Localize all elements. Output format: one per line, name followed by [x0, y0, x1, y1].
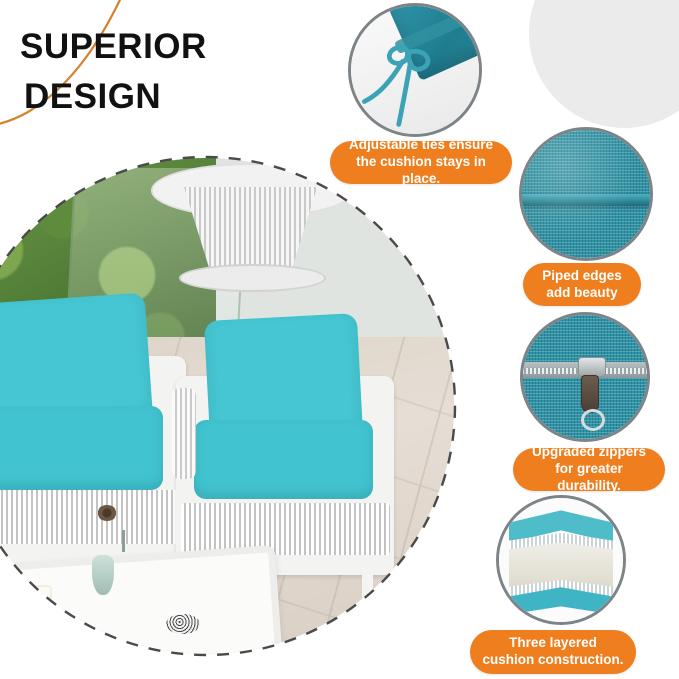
chair-right-armrest: [172, 388, 196, 479]
round-wicker-side-table: [151, 163, 349, 312]
tie-straps-bow-icon: [351, 6, 479, 134]
hero-photo-image: [0, 158, 454, 654]
infographic-canvas: SUPERIOR DESIGN: [0, 0, 679, 679]
page-title: SUPERIOR DESIGN: [20, 22, 340, 121]
chair-right-seat-cushion: [194, 420, 373, 499]
chair-right-rope-weave: [181, 503, 391, 555]
chair-left: [0, 356, 186, 564]
callout-layers: Three layered cushion construction.: [470, 630, 636, 674]
detail-photo-layers: [496, 495, 626, 625]
zipper-pull-tab: [581, 375, 599, 413]
callout-piped-edges: Piped edges add beauty: [523, 263, 641, 306]
flower-stem: [122, 530, 125, 552]
headline-line-1: SUPERIOR: [20, 27, 207, 66]
detail-photo-piped-edges: [519, 127, 653, 261]
dried-flower: [97, 505, 117, 521]
detail-photo-zipper: [520, 312, 650, 442]
table-base-ring: [179, 264, 326, 292]
callout-ties: Adjustable ties ensure the cushion stays…: [330, 141, 512, 184]
chair-right: [176, 376, 394, 574]
piped-fabric-sheen: [522, 130, 650, 258]
detail-photo-ties: [348, 3, 482, 137]
candle-stand: [22, 619, 52, 633]
ceramic-vase: [92, 555, 114, 595]
chair-left-rope-weave: [0, 490, 182, 544]
corner-blob-decoration: [529, 0, 679, 128]
callout-zippers: Upgraded zippers for greater durability.: [513, 448, 665, 491]
hero-photo: [0, 152, 460, 660]
chair-right-leg-back: [362, 567, 373, 619]
zipper-pull-ring: [581, 409, 605, 431]
candle: [22, 585, 52, 615]
headline-line-2: DESIGN: [20, 72, 340, 122]
chair-left-seat-cushion: [0, 406, 163, 489]
